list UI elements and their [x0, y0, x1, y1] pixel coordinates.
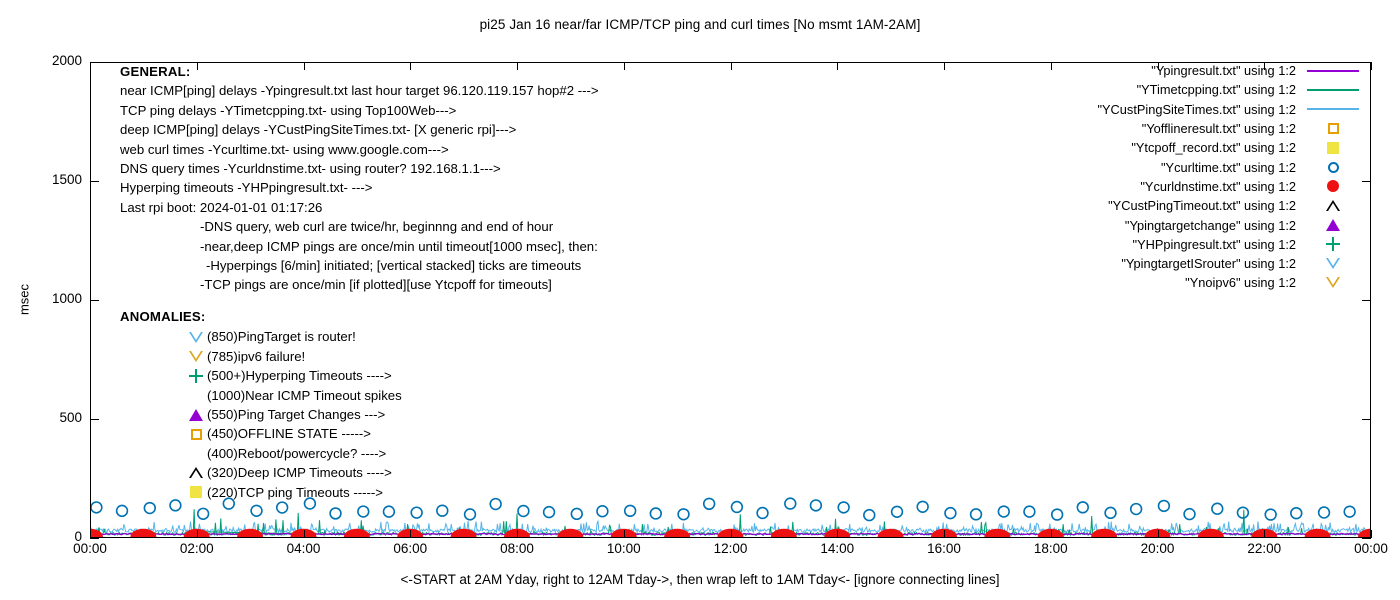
legend-item[interactable]: "YpingtargetISrouter" using 1:2 — [1025, 254, 1370, 273]
legend-item-label: "Ypingtargetchange" using 1:2 — [1125, 218, 1296, 233]
legend-item[interactable]: "Ytcpoff_record.txt" using 1:2 — [1025, 138, 1370, 157]
y-axis-tick-mark — [90, 538, 99, 539]
open-triangle-icon — [189, 467, 203, 478]
open-square-icon — [1328, 123, 1339, 134]
legend-item-sample — [1296, 254, 1370, 273]
general-line: Last rpi boot: 2024-01-01 01:17:26 — [120, 198, 599, 217]
chart-root: pi25 Jan 16 near/far ICMP/TCP ping and c… — [0, 0, 1400, 600]
general-notes-block: GENERAL: near ICMP[ping] delays -Ypingre… — [120, 62, 599, 295]
legend-item[interactable]: "Ycurltime.txt" using 1:2 — [1025, 157, 1370, 176]
legend-item-label: "YCustPingSiteTimes.txt" using 1:2 — [1097, 102, 1296, 117]
anomaly-marker — [185, 366, 207, 385]
filled-triangle-icon — [189, 409, 203, 421]
anomaly-item: (550)Ping Target Changes ---> — [120, 405, 402, 424]
filled-triangle-icon — [1326, 219, 1340, 231]
open-circle-icon — [1328, 162, 1339, 173]
x-axis-tick-mark — [624, 530, 625, 538]
legend-item[interactable]: "Ynoipv6" using 1:2 — [1025, 273, 1370, 292]
x-axis-tick-label: 16:00 — [927, 541, 961, 556]
anomaly-label: (850)PingTarget is router! — [207, 327, 356, 346]
x-axis-tick-label: 02:00 — [180, 541, 214, 556]
general-note: -Hyperpings [6/min] initiated; [vertical… — [120, 256, 599, 275]
x-axis-tick-mark — [1264, 530, 1265, 538]
anomalies-block: ANOMALIES: (850)PingTarget is router!(78… — [120, 307, 402, 502]
x-axis-tick-label: 22:00 — [1247, 541, 1281, 556]
x-axis-tick-label: 18:00 — [1034, 541, 1068, 556]
anomaly-marker — [185, 328, 207, 347]
legend-item-label: "Ycurltime.txt" using 1:2 — [1161, 160, 1296, 175]
x-axis-tick-mark — [944, 62, 945, 70]
anomaly-marker — [185, 463, 207, 482]
general-note: -near,deep ICMP pings are once/min until… — [120, 237, 599, 256]
y-axis-tick-mark — [90, 181, 99, 182]
filled-circle-icon — [1327, 180, 1339, 192]
legend-item-sample — [1296, 158, 1370, 177]
legend-item[interactable]: "Ypingresult.txt" using 1:2 — [1025, 61, 1370, 80]
x-axis-tick-mark — [410, 530, 411, 538]
y-axis-tick-mark — [1362, 419, 1371, 420]
x-axis-tick-label: 00:00 — [1354, 541, 1388, 556]
x-axis-tick-mark — [517, 530, 518, 538]
legend-item-label: "Ytcpoff_record.txt" using 1:2 — [1131, 140, 1296, 155]
legend-item-sample — [1296, 216, 1370, 235]
y-axis-tick-mark — [1362, 538, 1371, 539]
x-axis-tick-label: 14:00 — [820, 541, 854, 556]
filled-square-icon — [1327, 142, 1339, 154]
legend-item-sample — [1296, 235, 1370, 254]
legend-item-label: "YpingtargetISrouter" using 1:2 — [1121, 256, 1296, 271]
legend-item-sample — [1296, 119, 1370, 138]
general-note: -DNS query, web curl are twice/hr, begin… — [120, 217, 599, 236]
y-axis-tick-mark — [90, 62, 99, 63]
legend-item-sample — [1296, 80, 1370, 99]
anomalies-heading: ANOMALIES: — [120, 307, 402, 326]
x-axis-tick-label: 12:00 — [714, 541, 748, 556]
legend-item-label: "Ypingresult.txt" using 1:2 — [1151, 63, 1296, 78]
anomaly-marker — [185, 405, 207, 424]
x-axis-tick-mark — [731, 62, 732, 70]
anomaly-item: (1000)Near ICMP Timeout spikes — [120, 386, 402, 405]
legend-item[interactable]: "YCustPingTimeout.txt" using 1:2 — [1025, 196, 1370, 215]
x-axis-tick-label: 20:00 — [1141, 541, 1175, 556]
anomaly-item: (220)TCP ping Timeouts -----> — [120, 483, 402, 502]
anomaly-marker — [185, 444, 207, 463]
x-axis-caption: <-START at 2AM Yday, right to 12AM Tday-… — [0, 572, 1400, 587]
open-down-triangle-icon — [189, 351, 203, 362]
anomaly-label: (220)TCP ping Timeouts -----> — [207, 483, 383, 502]
x-axis-tick-label: 08:00 — [500, 541, 534, 556]
general-line: Hyperping timeouts -YHPpingresult.txt- -… — [120, 178, 599, 197]
general-line: deep ICMP[ping] delays -YCustPingSiteTim… — [120, 120, 599, 139]
anomalies-list: (850)PingTarget is router!(785)ipv6 fail… — [120, 327, 402, 502]
x-axis-tick-mark — [731, 530, 732, 538]
legend-item-label: "YHPpingresult.txt" using 1:2 — [1133, 237, 1296, 252]
x-axis-tick-mark — [837, 530, 838, 538]
legend-item-label: "Ynoipv6" using 1:2 — [1185, 275, 1296, 290]
legend-item[interactable]: "YTimetcpping.txt" using 1:2 — [1025, 80, 1370, 99]
open-square-icon — [191, 429, 202, 440]
x-axis-tick-label: 00:00 — [73, 541, 107, 556]
y-axis-tick-mark — [90, 300, 99, 301]
legend-item-sample — [1296, 61, 1370, 80]
y-axis-tick-mark — [1362, 300, 1371, 301]
anomaly-label: (785)ipv6 failure! — [207, 347, 305, 366]
legend-line-sample — [1307, 108, 1359, 110]
x-axis-tick-mark — [1158, 530, 1159, 538]
x-axis-tick-label: 04:00 — [287, 541, 321, 556]
open-down-triangle-icon — [189, 332, 203, 343]
general-line: TCP ping delays -YTimetcpping.txt- using… — [120, 101, 599, 120]
anomaly-label: (450)OFFLINE STATE -----> — [207, 424, 371, 443]
legend-item-label: "Ycurldnstime.txt" using 1:2 — [1140, 179, 1296, 194]
anomaly-marker — [185, 483, 207, 502]
general-heading: GENERAL: — [120, 62, 599, 81]
x-axis-tick-label: 10:00 — [607, 541, 641, 556]
legend-line-sample — [1307, 89, 1359, 91]
anomaly-marker — [185, 425, 207, 444]
anomaly-item: (320)Deep ICMP Timeouts ----> — [120, 463, 402, 482]
legend-line-sample — [1307, 70, 1359, 72]
x-axis-tick-mark — [1371, 530, 1372, 538]
general-line: web curl times -Ycurltime.txt- using www… — [120, 140, 599, 159]
x-axis-tick-mark — [837, 62, 838, 70]
open-triangle-icon — [1326, 200, 1340, 211]
legend-item-label: "YTimetcpping.txt" using 1:2 — [1137, 82, 1296, 97]
y-axis-tick-label: 1500 — [22, 172, 82, 187]
x-axis-tick-mark — [90, 530, 91, 538]
anomaly-label: (550)Ping Target Changes ---> — [207, 405, 385, 424]
legend-item-label: "Yofflineresult.txt" using 1:2 — [1142, 121, 1296, 136]
y-axis-tick-label: 1000 — [22, 291, 82, 306]
legend-item-sample — [1296, 138, 1370, 157]
x-axis-tick-mark — [304, 530, 305, 538]
legend-item[interactable]: "Ycurldnstime.txt" using 1:2 — [1025, 177, 1370, 196]
general-line: DNS query times -Ycurldnstime.txt- using… — [120, 159, 599, 178]
legend: "Ypingresult.txt" using 1:2"YTimetcpping… — [1025, 61, 1370, 293]
plus-icon — [189, 369, 203, 383]
legend-item-sample — [1296, 196, 1370, 215]
legend-item[interactable]: "Yofflineresult.txt" using 1:2 — [1025, 119, 1370, 138]
y-axis-tick-label: 500 — [22, 410, 82, 425]
x-axis-tick-mark — [1051, 530, 1052, 538]
anomaly-item: (500+)Hyperping Timeouts ----> — [120, 366, 402, 385]
x-axis-tick-mark — [197, 530, 198, 538]
legend-item-sample — [1296, 273, 1370, 292]
open-down-triangle-icon — [1326, 277, 1340, 288]
x-axis-tick-mark — [1371, 62, 1372, 70]
general-line: near ICMP[ping] delays -Ypingresult.txt … — [120, 81, 599, 100]
anomaly-item: (785)ipv6 failure! — [120, 347, 402, 366]
anomaly-marker — [185, 347, 207, 366]
legend-item-sample — [1296, 177, 1370, 196]
general-note: -TCP pings are once/min [if plotted][use… — [120, 275, 599, 294]
y-axis-tick-mark — [90, 419, 99, 420]
legend-item[interactable]: "Ypingtargetchange" using 1:2 — [1025, 215, 1370, 234]
legend-item-sample — [1296, 100, 1370, 119]
legend-item[interactable]: "YCustPingSiteTimes.txt" using 1:2 — [1025, 100, 1370, 119]
chart-title: pi25 Jan 16 near/far ICMP/TCP ping and c… — [0, 17, 1400, 32]
x-axis-tick-label: 06:00 — [393, 541, 427, 556]
anomaly-item: (400)Reboot/powercycle? ----> — [120, 444, 402, 463]
anomaly-label: (500+)Hyperping Timeouts ----> — [207, 366, 392, 385]
legend-item-label: "YCustPingTimeout.txt" using 1:2 — [1108, 198, 1296, 213]
anomaly-item: (450)OFFLINE STATE -----> — [120, 424, 402, 443]
plus-icon — [1326, 237, 1340, 251]
anomaly-item: (850)PingTarget is router! — [120, 327, 402, 346]
y-axis-tick-label: 2000 — [22, 53, 82, 68]
anomaly-label: (320)Deep ICMP Timeouts ----> — [207, 463, 392, 482]
anomaly-marker — [185, 386, 207, 405]
legend-item[interactable]: "YHPpingresult.txt" using 1:2 — [1025, 235, 1370, 254]
open-down-triangle-icon — [1326, 258, 1340, 269]
anomaly-label: (400)Reboot/powercycle? ----> — [207, 444, 386, 463]
anomaly-label: (1000)Near ICMP Timeout spikes — [207, 386, 402, 405]
x-axis-tick-mark — [944, 530, 945, 538]
filled-square-icon — [190, 486, 202, 498]
x-axis-tick-mark — [90, 62, 91, 70]
x-axis-tick-mark — [624, 62, 625, 70]
